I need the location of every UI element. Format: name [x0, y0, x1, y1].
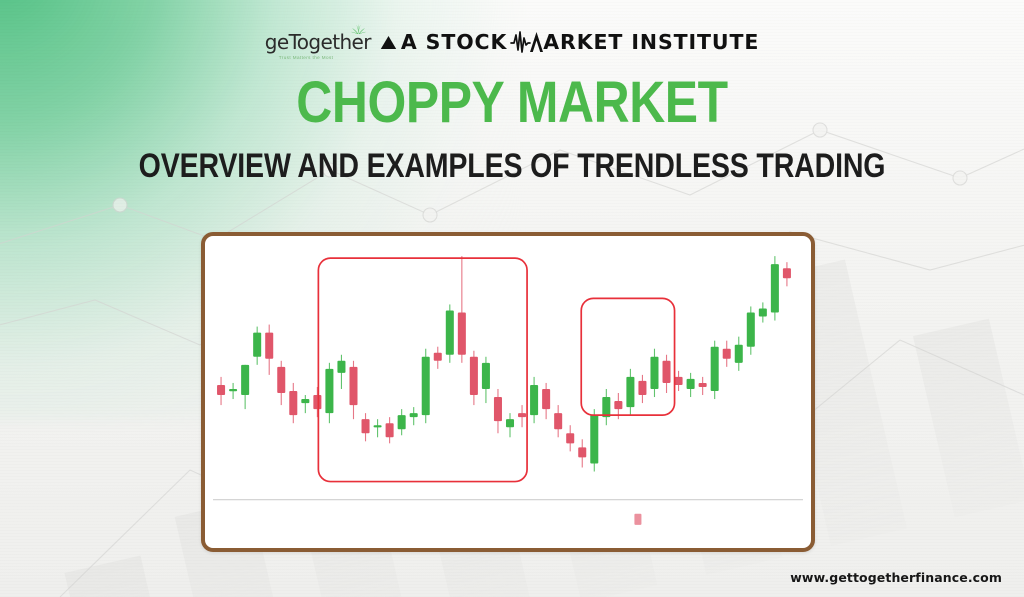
candle-body — [349, 367, 357, 405]
page-title: CHOPPY MARKET — [72, 74, 953, 132]
logo-subtagline: Trust Matters the Most — [279, 55, 334, 60]
candle-body — [374, 425, 382, 427]
candle-body — [458, 312, 466, 354]
candle-body — [241, 365, 249, 395]
candlestick-chart — [205, 236, 811, 548]
candle-body — [723, 349, 731, 359]
candlestick-chart-frame — [201, 232, 815, 552]
brand-header: geTogether Trust Matters the Most A STOC… — [0, 30, 1024, 54]
candle-body — [253, 333, 261, 357]
candle-body — [614, 401, 622, 409]
candle-body — [325, 369, 333, 413]
candle-body — [638, 381, 646, 395]
volume-bar — [634, 514, 641, 525]
candle-body — [650, 357, 658, 389]
pulse-wave-icon — [510, 30, 544, 54]
candle-body — [759, 308, 767, 316]
candle-body — [277, 367, 285, 393]
candle-body — [578, 447, 586, 457]
candle-body — [542, 389, 550, 409]
candle-body — [446, 310, 454, 354]
candle-body — [663, 361, 671, 383]
candle-body — [229, 389, 237, 391]
candle-body — [506, 419, 514, 427]
volume-series — [634, 514, 641, 525]
candle-body — [434, 353, 442, 361]
website-url: www.gettogetherfinance.com — [790, 570, 1002, 585]
candle-body — [602, 397, 610, 417]
candle-body — [687, 379, 695, 389]
logo-wordmark: geTogether — [265, 32, 371, 52]
triangle-icon — [380, 35, 397, 50]
candle-body — [735, 345, 743, 363]
candle-body — [590, 415, 598, 463]
candle-body — [362, 419, 370, 433]
candle-body — [675, 377, 683, 385]
candle-body — [747, 312, 755, 346]
candle-body — [313, 395, 321, 409]
candle-body — [470, 357, 478, 395]
candle-body — [410, 413, 418, 417]
candle-body — [337, 361, 345, 373]
candle-body — [265, 333, 273, 359]
candle-body — [626, 377, 634, 407]
tagline-text-before: A STOCK — [401, 30, 507, 54]
candle-series — [217, 256, 791, 471]
institute-tagline: A STOCK ARKET INSTITUTE — [380, 30, 759, 54]
candle-body — [554, 413, 562, 429]
candle-body — [422, 357, 430, 415]
candle-body — [771, 264, 779, 312]
leaf-crown-icon — [350, 23, 367, 35]
candle-body — [482, 363, 490, 389]
candle-body — [518, 413, 526, 417]
candle-body — [494, 397, 502, 421]
getogether-logo: geTogether Trust Matters the Most — [265, 32, 371, 52]
choppy-range-annotations — [318, 258, 674, 481]
candle-body — [566, 433, 574, 443]
candle-body — [217, 385, 225, 395]
candle-body — [289, 391, 297, 415]
candle-body — [398, 415, 406, 429]
candle-body — [699, 383, 707, 387]
candle-body — [386, 423, 394, 437]
candle-body — [530, 385, 538, 415]
tagline-text-after: ARKET INSTITUTE — [543, 30, 759, 54]
candle-body — [301, 399, 309, 403]
candle-body — [711, 347, 719, 391]
candle-body — [783, 268, 791, 278]
page-subtitle: OVERVIEW AND EXAMPLES OF TRENDLESS TRADI… — [82, 149, 942, 183]
